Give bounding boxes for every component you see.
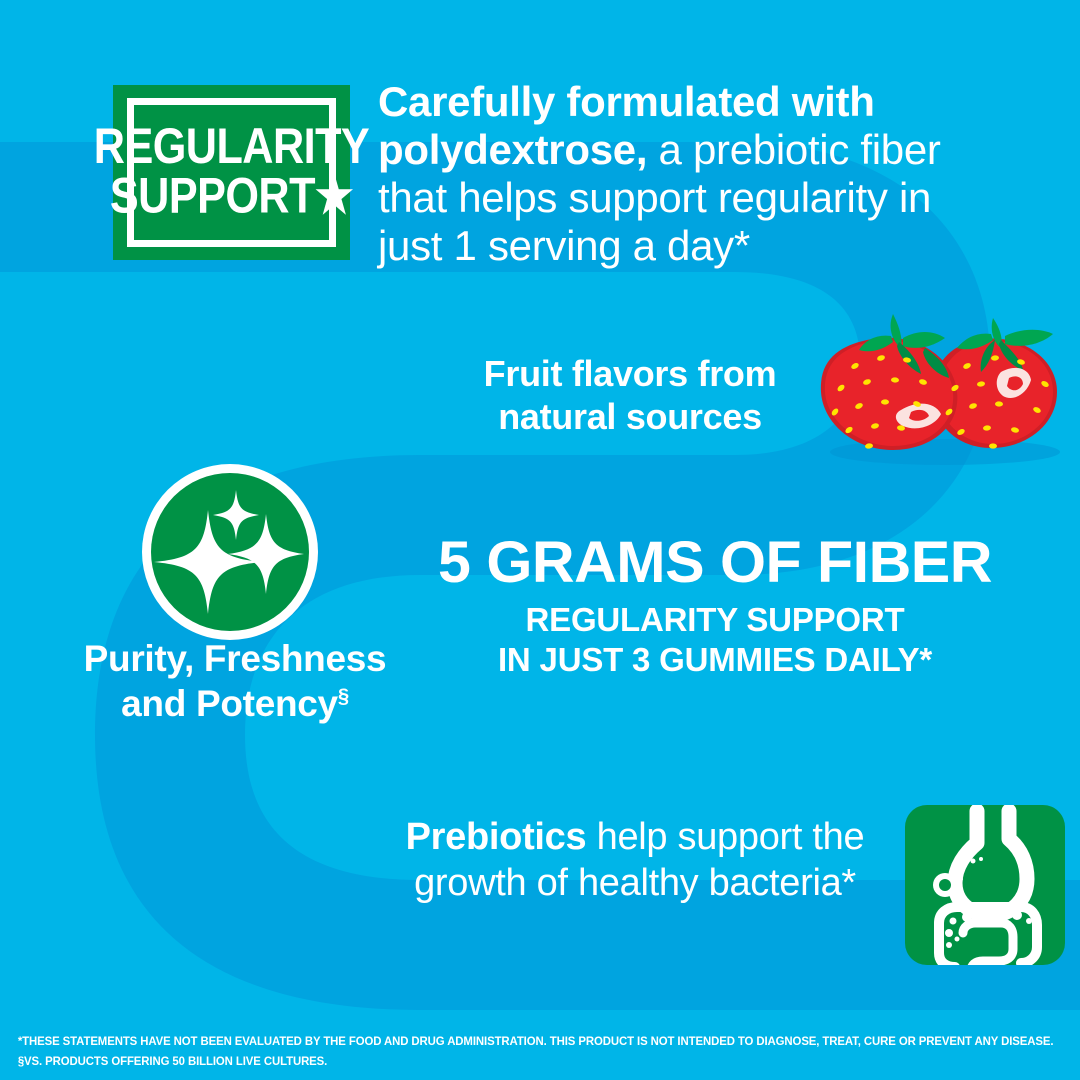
purity-line1: Purity, Freshness (40, 636, 430, 681)
badge-label: REGULARITY SUPPORT★ (94, 123, 369, 222)
stomach-digestive-icon (905, 805, 1065, 965)
regularity-support-badge: REGULARITY SUPPORT★ (113, 85, 350, 260)
fruit-flavors-line2: natural sources (455, 395, 805, 438)
fiber-headline: 5 GRAMS OF FIBER (394, 533, 1037, 594)
footer-line-2: §VS. PRODUCTS OFFERING 50 BILLION LIVE C… (18, 1052, 1052, 1072)
fruit-flavors-text: Fruit flavors from natural sources (455, 352, 805, 438)
purity-section-symbol: § (338, 686, 349, 708)
infographic-canvas: REGULARITY SUPPORT★ Carefully formulated… (0, 0, 1080, 1080)
prebiotics-text: Prebiotics help support the growth of he… (380, 815, 890, 906)
headline-polydextrose: Carefully formulated with polydextrose, … (378, 78, 993, 270)
purity-freshness-text: Purity, Freshness and Potency§ (40, 636, 430, 726)
fiber-subline-1: REGULARITY SUPPORT (400, 600, 1030, 640)
prebiotics-bold-part: Prebiotics (406, 816, 587, 858)
sparkle-icon (140, 462, 320, 642)
footer-disclaimer: *THESE STATEMENTS HAVE NOT BEEN EVALUATE… (0, 1032, 1069, 1072)
fruit-flavors-line1: Fruit flavors from (455, 352, 805, 395)
footer-line-1: *THESE STATEMENTS HAVE NOT BEEN EVALUATE… (18, 1032, 1052, 1052)
purity-line2-wrap: and Potency§ (40, 681, 430, 726)
purity-line2: and Potency (121, 683, 338, 724)
fiber-claim-block: 5 GRAMS OF FIBER REGULARITY SUPPORT IN J… (400, 533, 1030, 680)
fiber-subline-2: IN JUST 3 GUMMIES DAILY* (400, 640, 1030, 680)
strawberries-icon (805, 300, 1067, 465)
